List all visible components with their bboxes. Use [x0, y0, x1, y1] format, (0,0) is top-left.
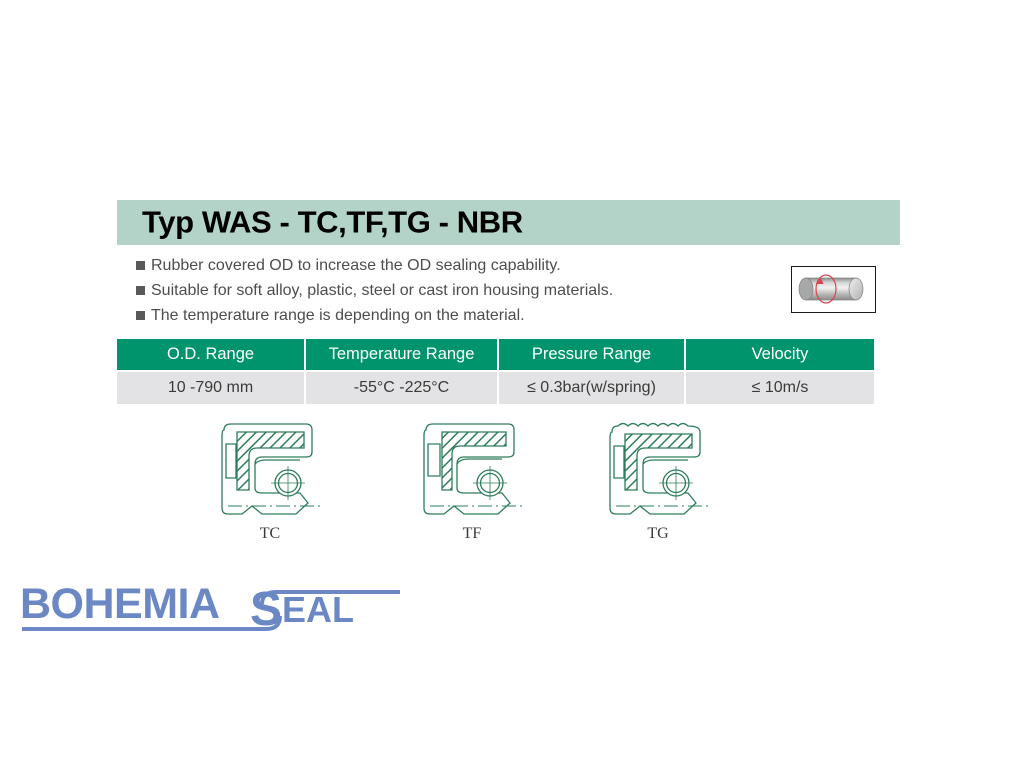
title-band: Typ WAS - TC,TF,TG - NBR — [117, 200, 900, 245]
table-header-cell: Velocity — [686, 339, 874, 370]
feature-bullet-list: Rubber covered OD to increase the OD sea… — [136, 256, 756, 331]
bohemia-seal-logo: BOHEMIA EAL S — [18, 578, 418, 640]
list-item: The temperature range is depending on th… — [136, 306, 756, 327]
rotating-shaft-graphic — [792, 267, 874, 311]
table-header-cell: O.D. Range — [117, 339, 304, 370]
seal-cross-section-tg — [588, 418, 728, 523]
seal-diagram-tg: TG — [588, 418, 728, 548]
specification-table: O.D. Range Temperature Range Pressure Ra… — [117, 339, 874, 406]
logo-word-eal: EAL — [282, 589, 354, 630]
bullet-text: The temperature range is depending on th… — [151, 306, 525, 325]
seal-diagram-tc: TC — [200, 418, 340, 548]
table-cell-velocity: ≤ 10m/s — [686, 372, 874, 404]
company-logo: BOHEMIA EAL S — [18, 578, 418, 640]
seal-label: TG — [588, 525, 728, 543]
table-cell-pressure-range: ≤ 0.3bar(w/spring) — [499, 372, 684, 404]
table-cell-od-range: 10 -790 mm — [117, 372, 304, 404]
table-header-row: O.D. Range Temperature Range Pressure Ra… — [117, 339, 874, 370]
table-row: 10 -790 mm -55°C -225°C ≤ 0.3bar(w/sprin… — [117, 372, 874, 404]
list-item: Suitable for soft alloy, plastic, steel … — [136, 281, 756, 302]
table-header-cell: Pressure Range — [499, 339, 684, 370]
list-item: Rubber covered OD to increase the OD sea… — [136, 256, 756, 277]
seal-cross-section-tf — [402, 418, 542, 523]
square-bullet-icon — [136, 261, 145, 270]
seal-label: TC — [200, 525, 340, 543]
logo-word-bohemia: BOHEMIA — [20, 580, 220, 628]
seal-diagram-tf: TF — [402, 418, 542, 548]
square-bullet-icon — [136, 286, 145, 295]
rotating-shaft-icon — [791, 266, 876, 313]
seal-label: TF — [402, 525, 542, 543]
square-bullet-icon — [136, 311, 145, 320]
page-title: Typ WAS - TC,TF,TG - NBR — [142, 204, 523, 240]
bullet-text: Suitable for soft alloy, plastic, steel … — [151, 281, 613, 300]
bullet-text: Rubber covered OD to increase the OD sea… — [151, 256, 561, 275]
table-cell-temperature-range: -55°C -225°C — [306, 372, 497, 404]
seal-cross-section-tc — [200, 418, 340, 523]
table-header-cell: Temperature Range — [306, 339, 497, 370]
